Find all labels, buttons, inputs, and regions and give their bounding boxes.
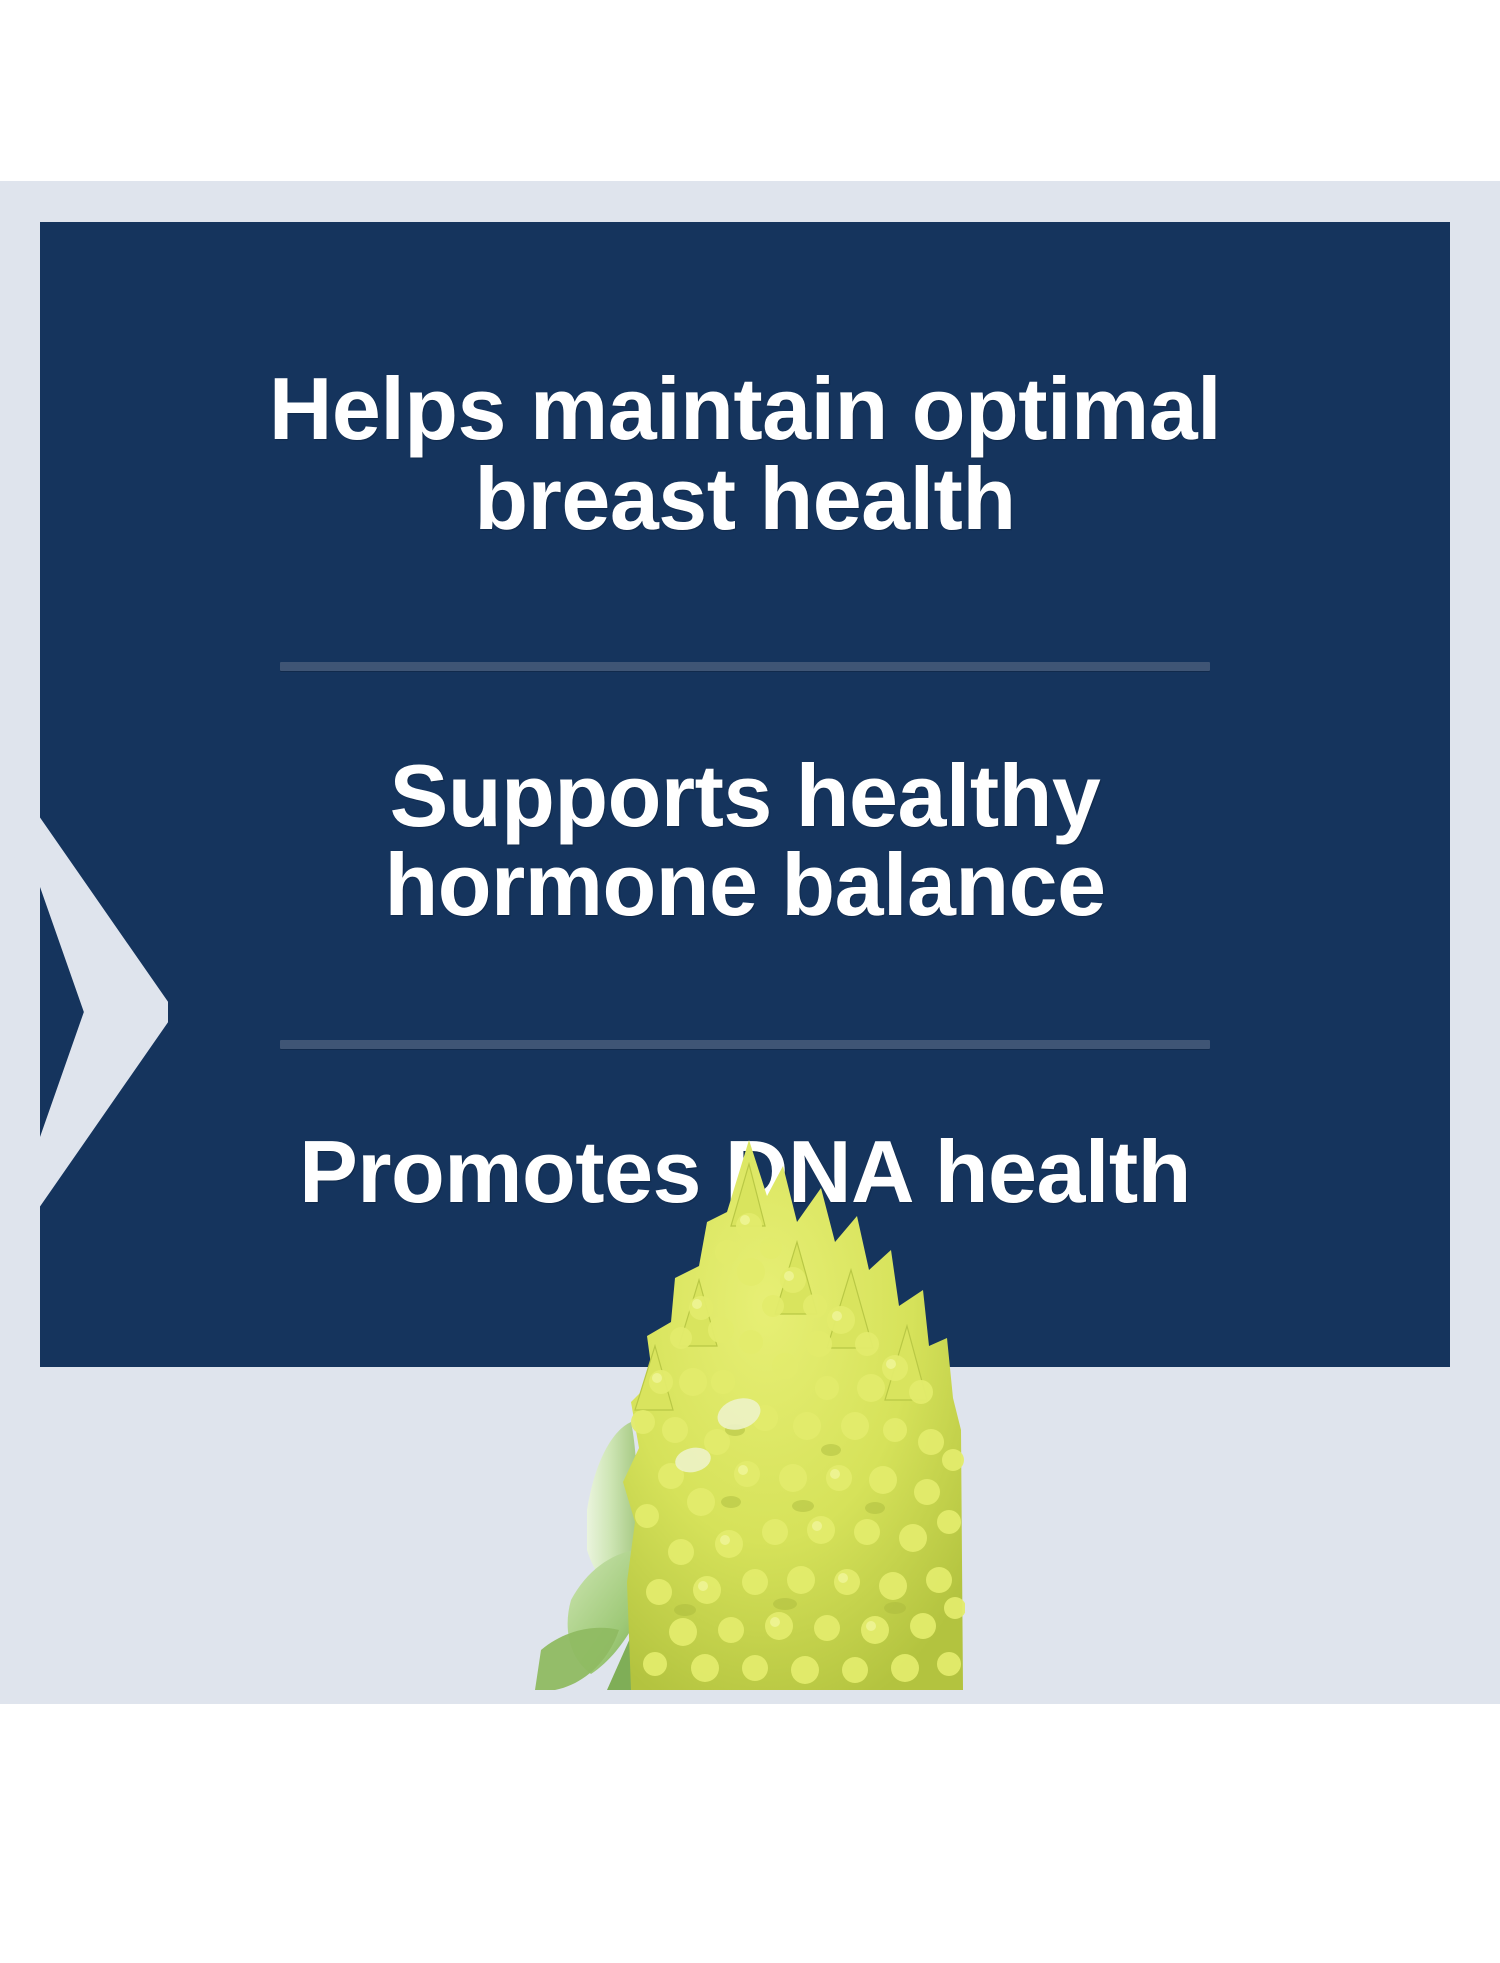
benefits-list: Helps maintain optimal breast health Sup… bbox=[40, 222, 1450, 1217]
spacer-4 bbox=[40, 1049, 1450, 1127]
spacer-2 bbox=[40, 671, 1450, 751]
benefits-card: Helps maintain optimal breast health Sup… bbox=[40, 222, 1450, 1367]
benefit-item-hormone-balance: Supports healthy hormone balance bbox=[235, 751, 1255, 931]
divider-1 bbox=[280, 662, 1210, 671]
benefit-item-breast-health: Helps maintain optimal breast health bbox=[150, 364, 1340, 544]
product-benefits-graphic: Helps maintain optimal breast health Sup… bbox=[0, 0, 1500, 1963]
divider-2 bbox=[280, 1040, 1210, 1049]
benefit-item-dna-health: Promotes DNA health bbox=[100, 1127, 1390, 1217]
spacer-3 bbox=[40, 930, 1450, 1040]
divider-1-wrap bbox=[40, 662, 1450, 671]
divider-2-wrap bbox=[40, 1040, 1450, 1049]
spacer-1 bbox=[40, 544, 1450, 662]
